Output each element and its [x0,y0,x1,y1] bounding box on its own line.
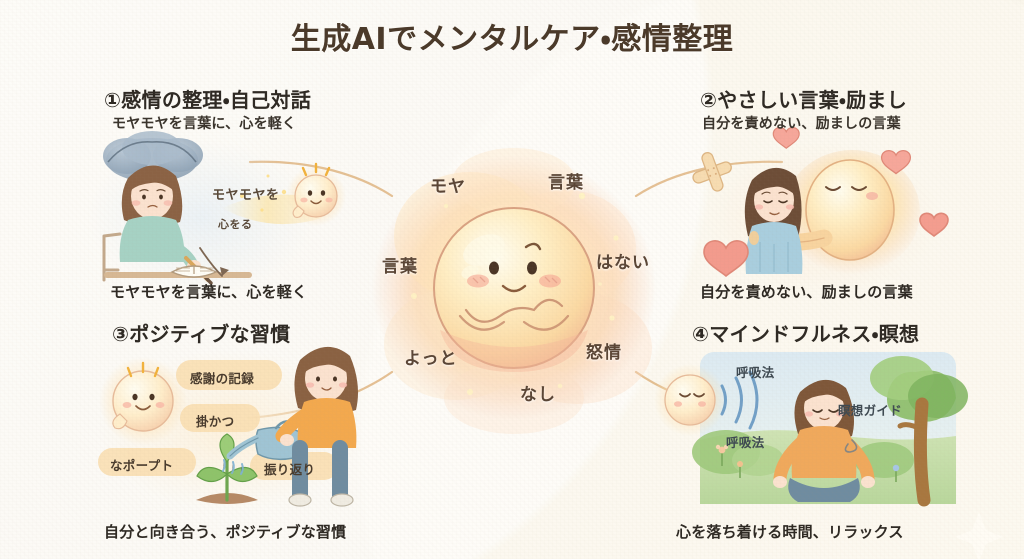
panel-4-illustration [654,352,968,504]
center-hub [372,148,656,434]
hub-label-bottom-left: よっと [404,344,458,369]
page-title: 生成AIでメンタルケア・感情整理 [0,14,1024,58]
hub-label-bottom-center: なし [520,380,556,405]
section-3-heading: ③ポジティブな習慣 [112,318,290,347]
panel-1-illustration [88,131,346,296]
hub-label-bottom-right: 怒情 [586,338,622,363]
mascot-hug-figure [768,150,920,274]
corner-sparkle-icon [955,512,1003,559]
tree [870,356,968,500]
section-4-heading: ④マインドフルネス・瞑想 [692,318,919,347]
mascot-small-panel4 [654,364,726,436]
woman-sad-figure [745,168,803,274]
infographic-canvas: 生成AIでメンタルケア・感情整理 ①感情の整理・自己対話 モヤモヤを言葉に、心を… [0,0,1024,559]
rain-cloud-icon [103,131,203,182]
bandage-icon [686,146,737,197]
section-3-caption: 自分と向き合う、ポジティブな習慣 [104,521,346,542]
panel-3-bubble-positive: なポープト [110,455,173,474]
section-1-caption: モヤモヤを言葉に、心を軽く [110,281,307,302]
mascot-small-panel3 [99,357,187,445]
woman-writing-figure [104,165,211,283]
panel-1-label-moyamoya: モヤモヤを [212,184,280,203]
section-1-heading: ①感情の整理・自己対話 [104,84,311,113]
panel-2-illustration [686,128,948,294]
panel-4-label-meditation-guide: 瞑想ガイド [838,400,902,419]
section-4-caption: 心を落ち着ける時間、リラックス [676,521,904,542]
panel-4-label-breathing-bottom: 呼吸法 [726,432,764,451]
section-1-subtitle: モヤモヤを言葉に、心を軽く [112,113,296,133]
panel-4-label-breathing-top: 呼吸法 [736,362,774,381]
hub-label-top-right: 言葉 [548,168,584,193]
woman-watering-figure [280,347,358,506]
panel-3-bubble-habit: 掛かつ [196,411,234,430]
woman-meditating-figure [773,380,875,502]
heart-icons [704,128,948,276]
section-2-subtitle: 自分を責めない、励ましの言葉 [702,113,901,133]
section-2-caption: 自分を責めない、励ましの言葉 [700,281,913,302]
panel-3-bubble-reflection: 振り返り [264,459,315,478]
hub-label-top-left: モヤ [430,172,466,197]
hub-label-right: はない [596,248,650,273]
desk-and-notebook [104,266,252,278]
panel-3-bubble-gratitude: 感謝の記録 [190,368,254,387]
section-2-heading: ②やさしい言葉・励まし [700,84,907,113]
mascot-small-panel1 [286,164,346,226]
seedling-plant [196,434,258,504]
panel-1-label-kokoro: 心をる [218,216,253,232]
hub-label-left: 言葉 [382,252,418,277]
